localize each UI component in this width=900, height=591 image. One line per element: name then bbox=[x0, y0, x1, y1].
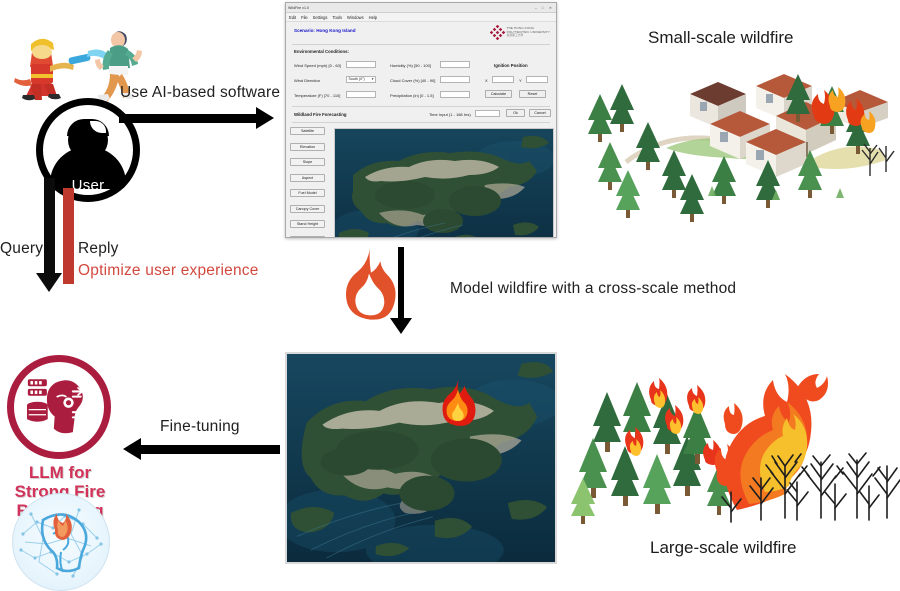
menu-item-windows[interactable]: Windows bbox=[347, 15, 364, 20]
layer-button-elevation[interactable]: Elevation bbox=[290, 143, 325, 151]
llm-head-database-icon bbox=[7, 355, 111, 459]
fine-tuning-label: Fine-tuning bbox=[160, 418, 240, 436]
divider-bottom bbox=[292, 122, 550, 123]
layer-button-stand-height[interactable]: Stand Height bbox=[290, 220, 325, 228]
layer-button-aspect[interactable]: Aspect bbox=[290, 174, 325, 182]
wind-direction-label: Wind Direction bbox=[294, 78, 320, 83]
humidity-label: Humidity (%) [50 - 100] bbox=[390, 63, 431, 68]
layer-button-satellite[interactable]: Satellite bbox=[290, 127, 325, 135]
humidity-input[interactable] bbox=[440, 61, 470, 68]
wind-speed-label: Wind Speed (mph) [0 - 60] bbox=[294, 63, 341, 68]
fire-marker-icon bbox=[439, 376, 477, 426]
arrow-reply-up bbox=[63, 188, 74, 284]
window-titlebar: WildFire v1.0 – □ ✕ bbox=[286, 3, 556, 13]
query-label: Query bbox=[0, 240, 43, 258]
cloud-cover-label: Cloud Cover (%) [40 - 90] bbox=[390, 78, 435, 83]
divider-top bbox=[292, 44, 550, 45]
environmental-conditions-heading: Environmental Conditions: bbox=[294, 49, 349, 54]
arrow-fine-tuning-left bbox=[140, 445, 280, 454]
scenario-label: Scenario: Hong Kong Island bbox=[294, 28, 356, 33]
flame-icon bbox=[340, 247, 398, 326]
arrow-query-down bbox=[44, 178, 55, 274]
ignition-y-input[interactable] bbox=[526, 76, 548, 83]
arrow-user-to-software bbox=[119, 114, 257, 123]
calculate-button[interactable]: Calculate bbox=[485, 90, 512, 98]
large-scale-wildfire-label: Large-scale wildfire bbox=[650, 538, 796, 558]
wildfire-software-window[interactable]: WildFire v1.0 – □ ✕ Edit File Settings T… bbox=[285, 2, 557, 238]
model-wildfire-label: Model wildfire with a cross-scale method bbox=[450, 280, 736, 298]
llm-title-line1: LLM for bbox=[0, 463, 120, 482]
divider-mid bbox=[292, 106, 550, 107]
hong-kong-island-satellite-map[interactable] bbox=[334, 128, 554, 238]
ignition-x-input[interactable] bbox=[492, 76, 514, 83]
optimize-user-experience-label: Optimize user experience bbox=[78, 262, 259, 280]
llm-badge bbox=[7, 355, 111, 459]
window-title: WildFire v1.0 bbox=[288, 6, 535, 10]
small-scale-wildfire-label: Small-scale wildfire bbox=[648, 28, 793, 48]
wind-direction-select[interactable]: South (0°) ▾ bbox=[346, 76, 376, 83]
layer-button-base-height[interactable]: Base Height bbox=[290, 236, 325, 239]
wind-speed-input[interactable] bbox=[346, 61, 376, 68]
brain-network-fire-icon bbox=[12, 493, 110, 591]
user-hair-shape bbox=[67, 119, 109, 136]
university-logo: THE HONG KONG POLYTECHNIC UNIVERSITY 香港理… bbox=[490, 25, 550, 40]
x-label: X bbox=[485, 78, 488, 83]
layer-button-canopy-cover[interactable]: Canopy Cover bbox=[290, 205, 325, 213]
village-forest-small-fire-illustration bbox=[570, 50, 900, 230]
brain-network-badge bbox=[12, 493, 110, 591]
time-input-field[interactable] bbox=[475, 110, 500, 117]
precipitation-label: Precipitation (in) [0 - 1.5] bbox=[390, 93, 434, 98]
window-body: Scenario: Hong Kong Island THE HONG KONG… bbox=[286, 22, 556, 238]
window-controls[interactable]: – □ ✕ bbox=[535, 6, 554, 10]
logo-line3: 香港理工大學 bbox=[507, 34, 550, 37]
layer-button-slope[interactable]: Slope bbox=[290, 158, 325, 166]
arrow-model-down bbox=[398, 247, 404, 319]
menu-item-edit[interactable]: Edit bbox=[289, 15, 296, 20]
menu-item-help[interactable]: Help bbox=[369, 15, 377, 20]
menu-item-tools[interactable]: Tools bbox=[332, 15, 342, 20]
reset-button[interactable]: Reset bbox=[519, 90, 546, 98]
pu-diamond-logo-icon bbox=[490, 25, 505, 40]
use-ai-software-label: Use AI-based software bbox=[120, 84, 280, 102]
temperature-label: Temperature (F) [70 - 110] bbox=[294, 93, 340, 98]
menu-item-file[interactable]: File bbox=[301, 15, 308, 20]
time-input-label: Time Input (1 - 168 hrs) bbox=[429, 112, 471, 117]
ok-button[interactable]: Ok bbox=[506, 109, 525, 117]
layer-button-fuel-model[interactable]: Fuel Model bbox=[290, 189, 325, 197]
minimize-icon[interactable]: – bbox=[535, 6, 537, 10]
precipitation-input[interactable] bbox=[440, 91, 470, 98]
temperature-input[interactable] bbox=[346, 91, 376, 98]
wildland-fire-forecasting-heading: Wildland Fire Forecasting bbox=[294, 112, 347, 117]
hong-kong-island-satellite-map-with-ignition[interactable] bbox=[285, 352, 557, 564]
reply-label: Reply bbox=[78, 240, 119, 258]
ignition-position-heading: Ignition Position bbox=[494, 63, 528, 68]
menu-bar[interactable]: Edit File Settings Tools Windows Help bbox=[286, 13, 556, 22]
close-icon[interactable]: ✕ bbox=[549, 6, 552, 10]
layer-button-group[interactable]: Satellite Elevation Slope Aspect Fuel Mo… bbox=[290, 127, 325, 238]
cancel-button[interactable]: Cancel bbox=[529, 109, 551, 117]
chevron-down-icon: ▾ bbox=[372, 77, 374, 81]
cloud-cover-input[interactable] bbox=[440, 76, 470, 83]
y-label: Y bbox=[519, 78, 522, 83]
menu-item-settings[interactable]: Settings bbox=[313, 15, 328, 20]
maximize-icon[interactable]: □ bbox=[542, 6, 544, 10]
wind-direction-value: South (0°) bbox=[349, 77, 365, 81]
forest-crown-fire-burnt-trees-illustration bbox=[565, 352, 900, 530]
